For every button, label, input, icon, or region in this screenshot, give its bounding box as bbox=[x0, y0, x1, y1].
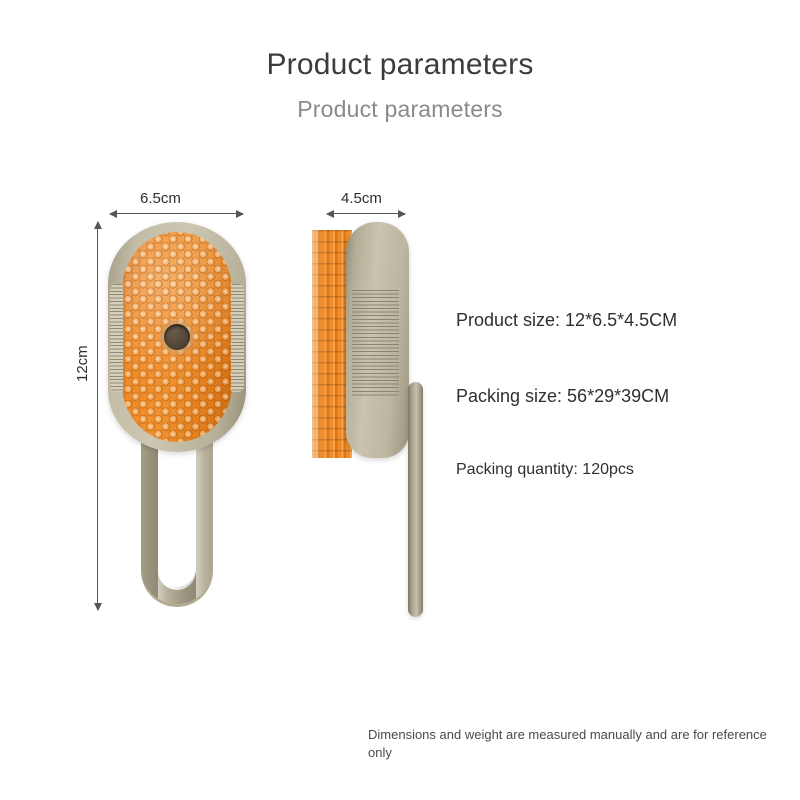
front-view-grip-ridges-right bbox=[231, 284, 244, 392]
spec-packing-quantity: Packing quantity: 120pcs bbox=[456, 461, 634, 479]
front-view-center-hole bbox=[164, 324, 190, 350]
arrow-right-icon bbox=[236, 210, 244, 218]
dimension-label-front-height: 12cm bbox=[74, 345, 91, 382]
page-subtitle: Product parameters bbox=[0, 96, 800, 123]
page-title: Product parameters bbox=[0, 48, 800, 82]
arrow-left-icon bbox=[109, 210, 117, 218]
dimension-label-side-width: 4.5cm bbox=[341, 190, 382, 207]
front-view-grip-ridges-left bbox=[110, 284, 123, 392]
dimension-line-front-width bbox=[110, 213, 243, 214]
front-view-body bbox=[108, 222, 246, 452]
product-parameters-page: Product parameters Product parameters 6.… bbox=[0, 0, 800, 800]
product-front-view bbox=[108, 222, 246, 612]
product-side-view bbox=[312, 222, 442, 617]
side-view-grip-ridges bbox=[352, 290, 399, 396]
dimension-line-side-width bbox=[327, 213, 405, 214]
side-view-handle bbox=[408, 382, 423, 617]
arrow-left-icon bbox=[326, 210, 334, 218]
side-view-body bbox=[346, 222, 409, 458]
dimension-line-front-height bbox=[97, 222, 98, 610]
spec-packing-size: Packing size: 56*29*39CM bbox=[456, 386, 669, 407]
spec-product-size: Product size: 12*6.5*4.5CM bbox=[456, 310, 677, 331]
dimension-label-front-width: 6.5cm bbox=[140, 190, 181, 207]
arrow-up-icon bbox=[94, 221, 102, 229]
arrow-down-icon bbox=[94, 603, 102, 611]
arrow-right-icon bbox=[398, 210, 406, 218]
footer-disclaimer: Dimensions and weight are measured manua… bbox=[368, 726, 768, 761]
